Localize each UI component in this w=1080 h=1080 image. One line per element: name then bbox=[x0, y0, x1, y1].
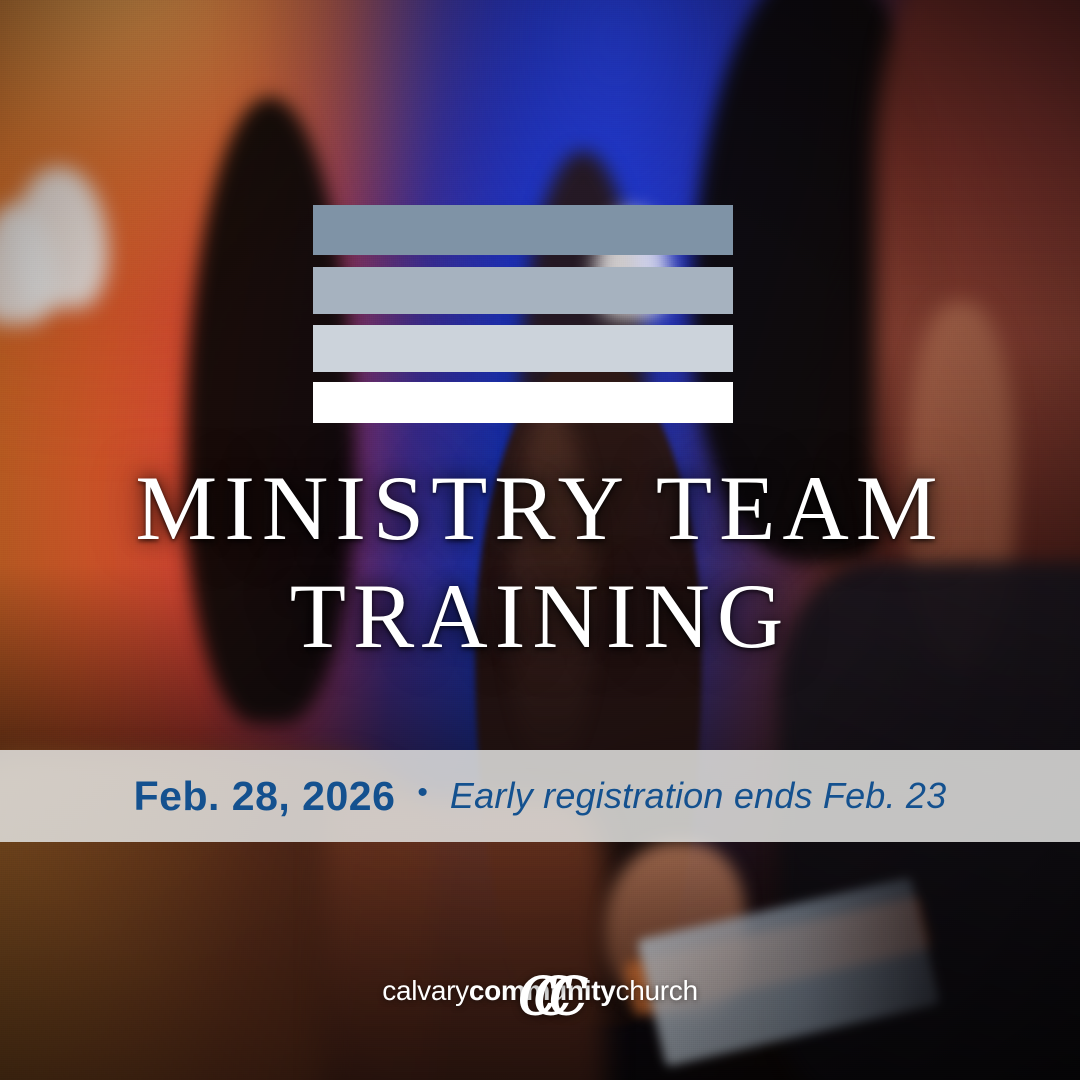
event-title-line-2: TRAINING bbox=[0, 570, 1080, 662]
event-title-line-1: MINISTRY TEAM bbox=[0, 462, 1080, 554]
church-logo: calvarycommunitychurch ccc bbox=[0, 975, 1080, 1035]
logo-word-calvary: calvary bbox=[382, 975, 469, 1006]
logo-wordmark: calvarycommunitychurch bbox=[382, 975, 698, 1006]
logo-word-community: community bbox=[469, 975, 616, 1006]
date-banner: Feb. 28, 2026 • Early registration ends … bbox=[0, 750, 1080, 842]
event-poster: MINISTRY TEAM TRAINING Feb. 28, 2026 • E… bbox=[0, 0, 1080, 1080]
stripe-bar-1 bbox=[313, 205, 733, 255]
logo-lockup: calvarycommunitychurch ccc bbox=[382, 975, 698, 1007]
event-title: MINISTRY TEAM TRAINING bbox=[0, 462, 1080, 662]
stripe-mark bbox=[313, 205, 733, 423]
logo-word-church: church bbox=[616, 975, 698, 1006]
stripe-bar-2 bbox=[313, 267, 733, 314]
bullet-separator-icon: • bbox=[417, 778, 428, 808]
stripe-bar-4 bbox=[313, 382, 733, 423]
stripe-bar-3 bbox=[313, 325, 733, 372]
event-date: Feb. 28, 2026 bbox=[134, 773, 396, 820]
early-registration-note: Early registration ends Feb. 23 bbox=[450, 775, 946, 817]
